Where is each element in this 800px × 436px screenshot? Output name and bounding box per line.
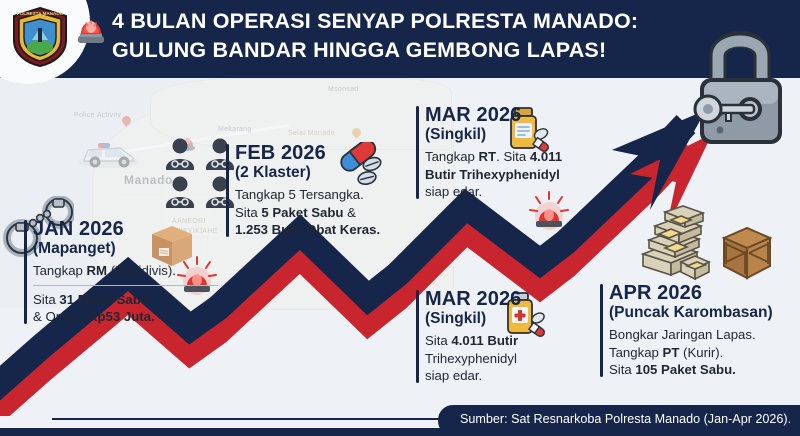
title-line-2: GULUNG BANDAR HINGGA GEMBONG LAPAS! (112, 36, 672, 65)
svg-text:POLRESTA MANADO: POLRESTA MANADO (17, 11, 64, 16)
detail-apr: Bongkar Jaringan Lapas. Tangkap PT (Kuri… (609, 326, 800, 379)
location-label-feb: (2 Klaster) (235, 164, 425, 182)
block-rule (24, 220, 27, 324)
jan-l2-bold: 31 Paket Sabu (59, 292, 148, 307)
detail-mar-top: Tangkap RT. Sita 4.011 Butir Trihexyphen… (425, 148, 605, 201)
source-footer: Sumber: Sat Resnarkoba Polresta Manado (… (438, 405, 800, 436)
block-rule (226, 144, 229, 237)
jan-l2-pre: Sita (33, 292, 59, 307)
apr-l2-post: (Kurir). (679, 345, 723, 360)
detail-feb: Tangkap 5 Tersangka. Sita 5 Paket Sabu &… (235, 186, 425, 239)
detail-mar-bottom: Sita 4.011 Butir Trihexyphenidyl siap ed… (425, 332, 595, 385)
source-text: Sumber: Sat Resnarkoba Polresta Manado (… (460, 412, 791, 426)
page-title: 4 BULAN OPERASI SENYAP POLRESTA MANADO: … (112, 7, 672, 65)
apr-l3-pre: Sita (609, 362, 635, 377)
jan-l1-post: (Residivis). (107, 263, 176, 278)
apr-l3-bold: 105 Paket Sabu. (635, 362, 735, 377)
month-label-apr: APR 2026 (609, 282, 702, 305)
feb-l2-bold: 5 Paket Sabu (261, 205, 343, 220)
jan-l3-bold: Rp53 Juta. (88, 309, 155, 324)
location-label-mar-bottom: (Singkil) (425, 310, 595, 328)
jan-l1-pre: Tangkap (33, 263, 87, 278)
header-siren-icon (74, 10, 108, 46)
mar2-l1-bold: 4.011 Butir (451, 333, 518, 348)
month-block-mar-bottom: MAR 2026 (Singkil) Sita 4.011 Butir Trih… (416, 288, 595, 385)
apr-l2-pre: Tangkap (609, 345, 663, 360)
mar1-l1-bold: RT (479, 149, 497, 164)
title-line-1: 4 BULAN OPERASI SENYAP POLRESTA MANADO: (112, 7, 672, 36)
feb-l3-bold: 1.253 Butir Obat Keras. (235, 222, 380, 237)
wooden-crate-icon (718, 222, 776, 284)
mar1-l2-bold: Butir Trihexyphenidyl (425, 167, 560, 182)
apr-l1: Bongkar Jaringan Lapas. (609, 327, 756, 342)
mar1-l1-bold2: 4.011 (530, 149, 562, 164)
location-label-jan: (Mapanget) (33, 240, 218, 258)
detail-jan-1: Tangkap RM (Residivis). (33, 262, 218, 280)
mar1-l1-pre: Tangkap (425, 149, 479, 164)
block-divider-jan (33, 285, 218, 286)
block-rule (416, 290, 419, 383)
jan-l3-pre: & Omzet (33, 309, 88, 324)
month-block-jan: JAN 2026 (Mapanget) Tangkap RM (Residivi… (24, 218, 218, 326)
month-label-mar-top: MAR 2026 (425, 104, 521, 127)
padlock-with-key-icon (688, 8, 792, 158)
infographic-root: Police Activity Mekarang Msonsad Selat M… (0, 0, 800, 436)
month-block-apr: APR 2026 (Puncak Karombasan) Bongkar Jar… (600, 282, 800, 379)
police-badge-icon: POLRESTA MANADO (10, 6, 70, 68)
mar1-l3: siap edar. (425, 184, 482, 199)
month-block-feb: FEB 2026 (2 Klaster) Tangkap 5 Tersangka… (226, 142, 425, 239)
month-block-mar-top: MAR 2026 (Singkil) Tangkap RT. Sita 4.01… (416, 104, 605, 201)
location-label-mar-top: (Singkil) (425, 126, 605, 144)
jan-l1-bold: RM (87, 263, 108, 278)
feb-l2-pre: Sita (235, 205, 261, 220)
block-rule (600, 284, 603, 377)
mar2-l1-pre: Sita (425, 333, 451, 348)
location-label-apr: (Puncak Karombasan) (609, 304, 800, 322)
feb-l1: Tangkap 5 Tersangka. (235, 187, 364, 202)
mar2-l3: siap edar. (425, 368, 482, 383)
mar1-l1-mid: . Sita (496, 149, 530, 164)
block-rule (416, 106, 419, 199)
footer-divider-line (52, 418, 447, 420)
month-label-jan: JAN 2026 (33, 218, 124, 241)
month-label-mar-bottom: MAR 2026 (425, 288, 521, 311)
detail-jan-2: Sita 31 Paket Sabu & Omzet Rp53 Juta. (33, 291, 218, 326)
feb-l2-post: & (343, 205, 355, 220)
money-stacks-icon (625, 196, 721, 282)
mar2-l2: Trihexyphenidyl (425, 351, 517, 366)
apr-l2-bold: PT (663, 345, 680, 360)
month-label-feb: FEB 2026 (235, 142, 326, 165)
